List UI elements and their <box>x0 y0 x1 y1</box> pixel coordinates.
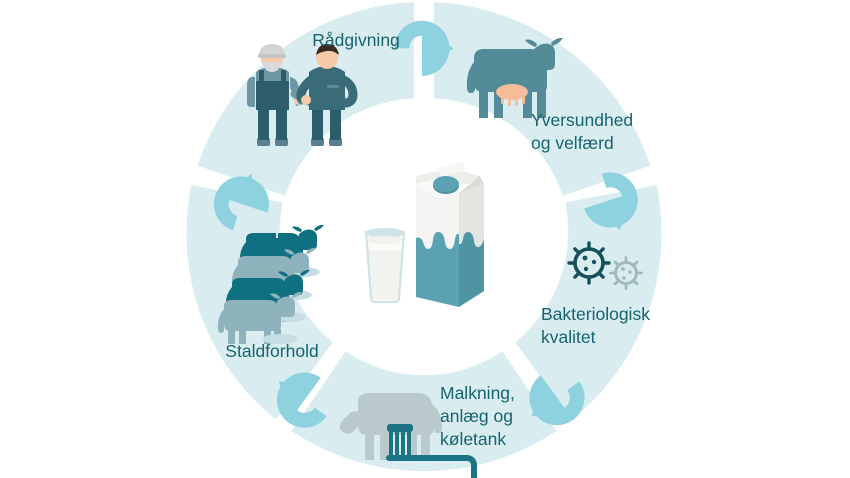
label-raadgivning: Rådgivning <box>312 30 400 50</box>
milk-carton-and-glass-icon <box>364 162 484 307</box>
cycle-diagram: Rådgivning Yversundhed og velfærd Bakter… <box>0 0 850 478</box>
milk-glass <box>364 228 408 306</box>
infographic-canvas: Rådgivning Yversundhed og velfærd Bakter… <box>0 0 850 478</box>
label-staldforhold: Staldforhold <box>225 341 318 361</box>
milk-carton <box>416 162 484 307</box>
